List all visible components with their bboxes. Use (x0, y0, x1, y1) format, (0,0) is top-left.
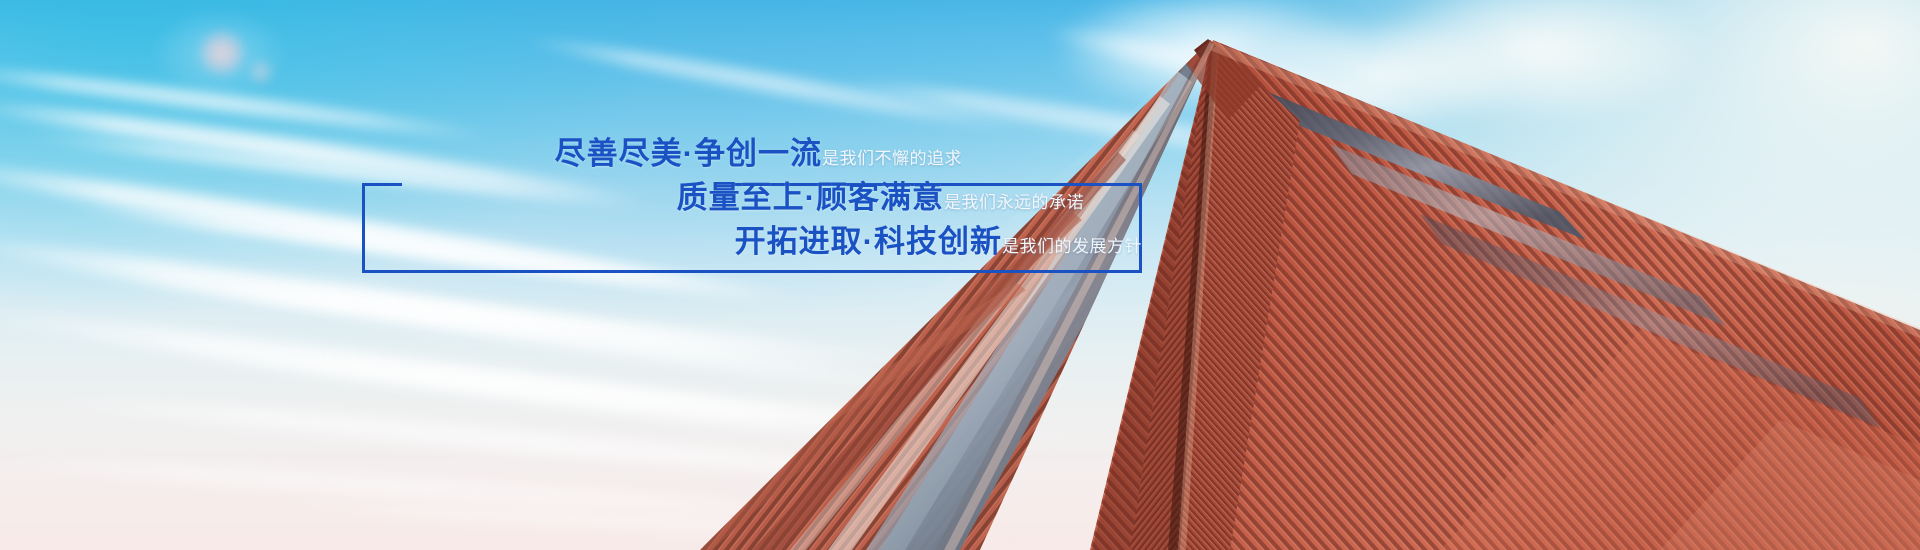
slogan-1-main: 尽善尽美·争创一流 (555, 136, 822, 171)
slogan-2-sub: 是我们永远的承诺 (944, 193, 1084, 212)
building-photo (0, 0, 1920, 550)
slogan-1-sub: 是我们不懈的追求 (822, 149, 962, 168)
slogan-frame: 尽善尽美·争创一流是我们不懈的追求 质量至上·顾客满意是我们永远的承诺 开拓进取… (362, 183, 1142, 273)
slogan-line-1: 尽善尽美·争创一流是我们不懈的追求 (302, 138, 1142, 169)
slogan-3-main: 开拓进取·科技创新 (735, 224, 1002, 259)
slogan-3-sub: 是我们的发展方针 (1002, 237, 1142, 256)
slogan-2-main: 质量至上·顾客满意 (677, 180, 944, 215)
slogan-line-2: 质量至上·顾客满意是我们永远的承诺 (302, 182, 1142, 213)
frame-bottom-segment (362, 270, 1142, 273)
hero-banner: 尽善尽美·争创一流是我们不懈的追求 质量至上·顾客满意是我们永远的承诺 开拓进取… (0, 0, 1920, 550)
slogan-list: 尽善尽美·争创一流是我们不懈的追求 质量至上·顾客满意是我们永远的承诺 开拓进取… (302, 138, 1142, 257)
slogan-line-3: 开拓进取·科技创新是我们的发展方针 (302, 226, 1142, 257)
